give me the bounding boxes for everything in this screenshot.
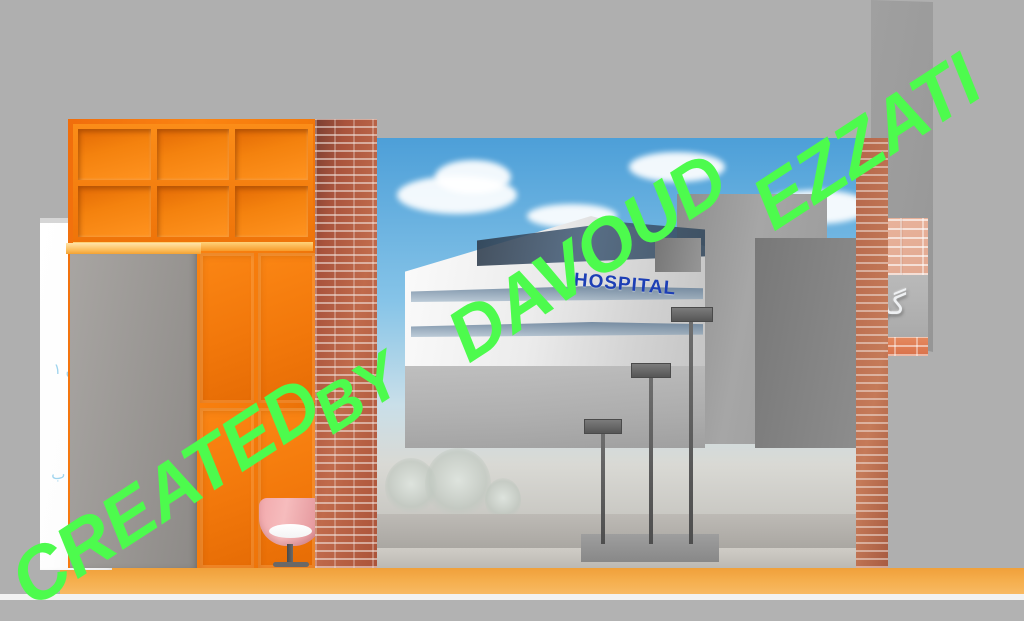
tub-chair [259, 498, 322, 570]
hospital-rooftop-plant [655, 238, 701, 272]
hospital-ground-floor [405, 366, 705, 448]
lamp-head [631, 363, 671, 378]
street-tree [425, 448, 491, 520]
counter-worktop [66, 243, 201, 254]
shelf-cubby [235, 186, 308, 237]
brick-pillar [315, 119, 377, 568]
cloud [435, 160, 511, 194]
booth-floor-slab [60, 568, 1024, 596]
chair-stem [287, 544, 293, 564]
orange-shelving-unit [73, 124, 313, 242]
chair-base [273, 562, 309, 567]
floor-front-edge [0, 594, 1024, 600]
lamp-pole [601, 434, 605, 544]
lamp-head [584, 419, 622, 434]
cloud [629, 152, 725, 182]
lamp-pole [689, 322, 693, 544]
right-brick-strip [856, 138, 888, 568]
shelf-cubby [157, 129, 230, 180]
render-canvas: سالن ۱ غرفه ب Arash Medical Group گروه پ… [0, 0, 1024, 621]
reception-counter [70, 251, 197, 568]
shelf-cubby [157, 186, 230, 237]
shelf-cubby [235, 129, 308, 180]
ground-plane [0, 600, 1024, 621]
chair-seat-cushion [269, 524, 312, 538]
wall-panel [200, 253, 254, 403]
lamp-pole [649, 378, 653, 544]
shelf-cubby [78, 186, 151, 237]
shelf-cubby [78, 129, 151, 180]
lamp-head [671, 307, 713, 322]
hospital-photo-mural: HOSPITAL [377, 138, 856, 568]
hospital-rear-block-2 [755, 238, 856, 448]
wall-panel [200, 408, 254, 568]
chair-shell [259, 498, 322, 546]
wall-panel [258, 253, 315, 403]
